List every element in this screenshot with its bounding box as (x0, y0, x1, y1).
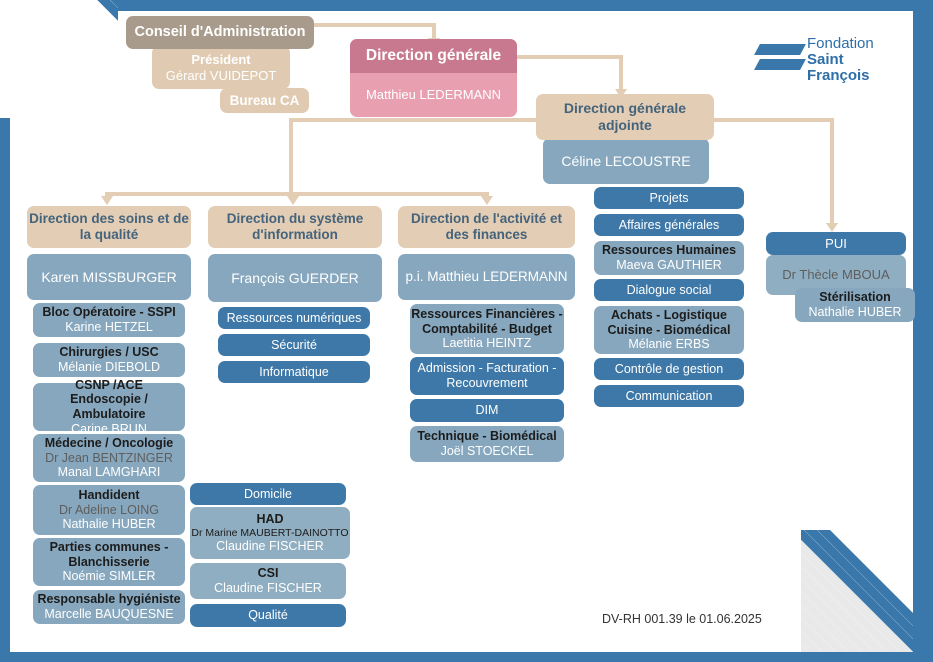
service-projets[interactable]: Projets (594, 187, 744, 209)
frame-bar-bottom (0, 652, 933, 662)
conseil-administration-box[interactable]: Conseil d'Administration (126, 16, 314, 49)
pui-title-box[interactable]: PUI (766, 232, 906, 255)
fondation-saint-francois-logo: Fondation Saint François (757, 38, 907, 78)
domicile-title-box[interactable]: Domicile (190, 483, 346, 505)
frame-bar-left (0, 118, 10, 662)
president-box[interactable]: Président Gérard VUIDEPOT (152, 46, 290, 89)
service-title: Projets (650, 191, 689, 206)
service-chirurgies-usc[interactable]: Chirurgies / USC Mélanie DIEBOLD (33, 343, 185, 377)
service-title: HAD (256, 512, 283, 527)
direction-generale-title-text: Direction générale (366, 47, 501, 65)
service-controle-gestion[interactable]: Contrôle de gestion (594, 358, 744, 380)
service-person: Noémie SIMLER (62, 569, 155, 584)
service-title: Admission - Facturation - Recouvrement (410, 361, 564, 391)
connector-dga-left-v (289, 118, 293, 196)
service-title: Sécurité (271, 338, 317, 353)
service-dim[interactable]: DIM (410, 399, 564, 422)
logo-shape-upper (754, 44, 806, 55)
column-head-name-si: François GUERDER (231, 270, 359, 287)
service-parties-communes[interactable]: Parties communes - Blanchisserie Noémie … (33, 538, 185, 586)
column-title-si: Direction du système d'information (208, 211, 382, 243)
column-title-soins: Direction des soins et de la qualité (27, 211, 191, 243)
service-title: Contrôle de gestion (615, 362, 723, 377)
service-technique-biomedical[interactable]: Technique - Biomédical Joël STOECKEL (410, 426, 564, 462)
service-had[interactable]: HAD Dr Marine MAUBERT-DAINOTTO Claudine … (190, 507, 350, 559)
service-affaires-generales[interactable]: Affaires générales (594, 214, 744, 236)
service-title: Technique - Biomédical (417, 429, 556, 444)
service-handident[interactable]: Handident Dr Adeline LOING Nathalie HUBE… (33, 485, 185, 535)
connector-dga-to-pui-v (830, 118, 834, 226)
logo-line-2: Saint François (807, 52, 907, 84)
service-title: Bloc Opératoire - SSPI (42, 305, 175, 320)
connector-ca-to-dg-h (313, 23, 436, 27)
bureau-ca-label: Bureau CA (230, 93, 300, 109)
president-role: Président (191, 52, 250, 67)
service-person: Joël STOECKEL (441, 444, 534, 459)
arrow-direction-si (287, 196, 299, 205)
service-person: Mélanie ERBS (628, 337, 709, 352)
service-title: Ressources Humaines (602, 243, 736, 258)
column-header-soins[interactable]: Direction des soins et de la qualité (27, 206, 191, 248)
service-title: Communication (626, 389, 713, 404)
service-ressources-humaines[interactable]: Ressources Humaines Maeva GAUTHIER (594, 241, 744, 275)
frame-bar-right (913, 0, 933, 662)
service-title: Qualité (248, 608, 288, 623)
service-doctor: Dr Marine MAUBERT-DAINOTTO (191, 527, 348, 539)
service-title: Handident (78, 488, 139, 503)
arrow-direction-soins (101, 196, 113, 205)
pui-head-name: Dr Thècle MBOUA (782, 267, 889, 282)
service-ressources-financieres[interactable]: Ressources Financières - Comptabilité - … (410, 304, 564, 354)
service-person: Karine HETZEL (65, 320, 153, 335)
service-title: Ressources numériques (227, 311, 362, 326)
column-head-name-finances: p.i. Matthieu LEDERMANN (405, 269, 567, 285)
service-title: DIM (476, 403, 499, 418)
service-title: CSNP /ACE Endoscopie / Ambulatoire (33, 378, 185, 422)
logo-text: Fondation Saint François (807, 36, 907, 83)
arrow-direction-finances (481, 196, 493, 205)
pui-title: PUI (825, 236, 847, 251)
column-header-finances[interactable]: Direction de l'activité et des finances (398, 206, 575, 248)
column-head-name-soins: Karen MISSBURGER (41, 269, 176, 286)
service-title: Informatique (259, 365, 328, 380)
arrow-dga-to-pui (826, 223, 838, 232)
decorative-stripes-top-left (0, 0, 118, 118)
conseil-administration-label: Conseil d'Administration (134, 24, 305, 41)
service-person: Laetitia HEINTZ (443, 336, 532, 351)
service-person: Nathalie HUBER (808, 305, 901, 320)
column-head-soins[interactable]: Karen MISSBURGER (27, 254, 191, 300)
org-chart-canvas: Fondation Saint François Président Gérar… (0, 0, 933, 662)
column-head-finances[interactable]: p.i. Matthieu LEDERMANN (398, 254, 575, 300)
service-bloc-operatoire[interactable]: Bloc Opératoire - SSPI Karine HETZEL (33, 303, 185, 337)
direction-generale-name: Matthieu LEDERMANN (350, 73, 517, 117)
service-person: Claudine FISCHER (214, 581, 322, 596)
service-doctor: Dr Adeline LOING (59, 503, 159, 518)
service-securite[interactable]: Sécurité (218, 334, 370, 356)
service-dialogue-social[interactable]: Dialogue social (594, 279, 744, 301)
service-title: Médecine / Oncologie (45, 436, 174, 451)
service-person: Mélanie DIEBOLD (58, 360, 160, 375)
service-qualite[interactable]: Qualité (190, 604, 346, 627)
dga-person-name: Céline LECOUSTRE (561, 153, 690, 170)
service-title: CSI (258, 566, 279, 581)
service-person: Claudine FISCHER (216, 539, 324, 554)
service-title: Dialogue social (627, 283, 712, 298)
connector-dga-to-pui-h (712, 118, 834, 122)
direction-generale-adjointe-box[interactable]: Direction générale adjointe (536, 94, 714, 140)
service-title: Stérilisation (819, 290, 891, 305)
service-informatique[interactable]: Informatique (218, 361, 370, 383)
column-head-si[interactable]: François GUERDER (208, 254, 382, 302)
service-title: Chirurgies / USC (59, 345, 158, 360)
service-ressources-numeriques[interactable]: Ressources numériques (218, 307, 370, 329)
dga-person-box[interactable]: Céline LECOUSTRE (543, 138, 709, 184)
connector-dg-to-dga-h (516, 55, 623, 59)
service-title: Affaires générales (619, 218, 720, 233)
footer-reference: DV-RH 001.39 le 01.06.2025 (602, 612, 762, 626)
service-person: Manal LAMGHARI (58, 465, 161, 480)
service-doctor: Dr Jean BENTZINGER (45, 451, 173, 466)
service-title: Parties communes - Blanchisserie (33, 540, 185, 570)
logo-shape-lower (754, 59, 806, 70)
direction-generale-title: Direction générale (350, 39, 517, 73)
frame-bar-top (118, 0, 933, 11)
service-achats-logistique[interactable]: Achats - Logistique Cuisine - Biomédical… (594, 306, 744, 354)
service-sterilisation[interactable]: Stérilisation Nathalie HUBER (795, 288, 915, 322)
direction-generale-box[interactable]: Direction générale Matthieu LEDERMANN (350, 39, 517, 117)
service-medecine-oncologie[interactable]: Médecine / Oncologie Dr Jean BENTZINGER … (33, 434, 185, 482)
bureau-ca-box[interactable]: Bureau CA (220, 88, 309, 113)
connector-dga-left-h (289, 118, 536, 122)
service-title: Ressources Financières - Comptabilité - … (410, 307, 564, 337)
service-person: Maeva GAUTHIER (616, 258, 722, 273)
dga-title: Direction générale adjointe (536, 100, 714, 133)
service-title: Achats - Logistique Cuisine - Biomédical (594, 308, 744, 338)
column-header-si[interactable]: Direction du système d'information (208, 206, 382, 248)
service-responsable-hygieniste[interactable]: Responsable hygiéniste Marcelle BAUQUESN… (33, 590, 185, 624)
service-title: Responsable hygiéniste (37, 592, 180, 607)
service-admission-facturation[interactable]: Admission - Facturation - Recouvrement (410, 357, 564, 395)
service-csi[interactable]: CSI Claudine FISCHER (190, 563, 346, 599)
service-csnp-ace[interactable]: CSNP /ACE Endoscopie / Ambulatoire Carin… (33, 383, 185, 431)
service-person: Nathalie HUBER (62, 517, 155, 532)
connector-dg-to-dga-v (619, 55, 623, 92)
logo-line-1: Fondation (807, 36, 907, 52)
service-communication[interactable]: Communication (594, 385, 744, 407)
column-title-finances: Direction de l'activité et des finances (398, 211, 575, 243)
domicile-title: Domicile (244, 487, 292, 502)
president-name: Gérard VUIDEPOT (166, 68, 277, 83)
service-person: Marcelle BAUQUESNE (44, 607, 173, 622)
